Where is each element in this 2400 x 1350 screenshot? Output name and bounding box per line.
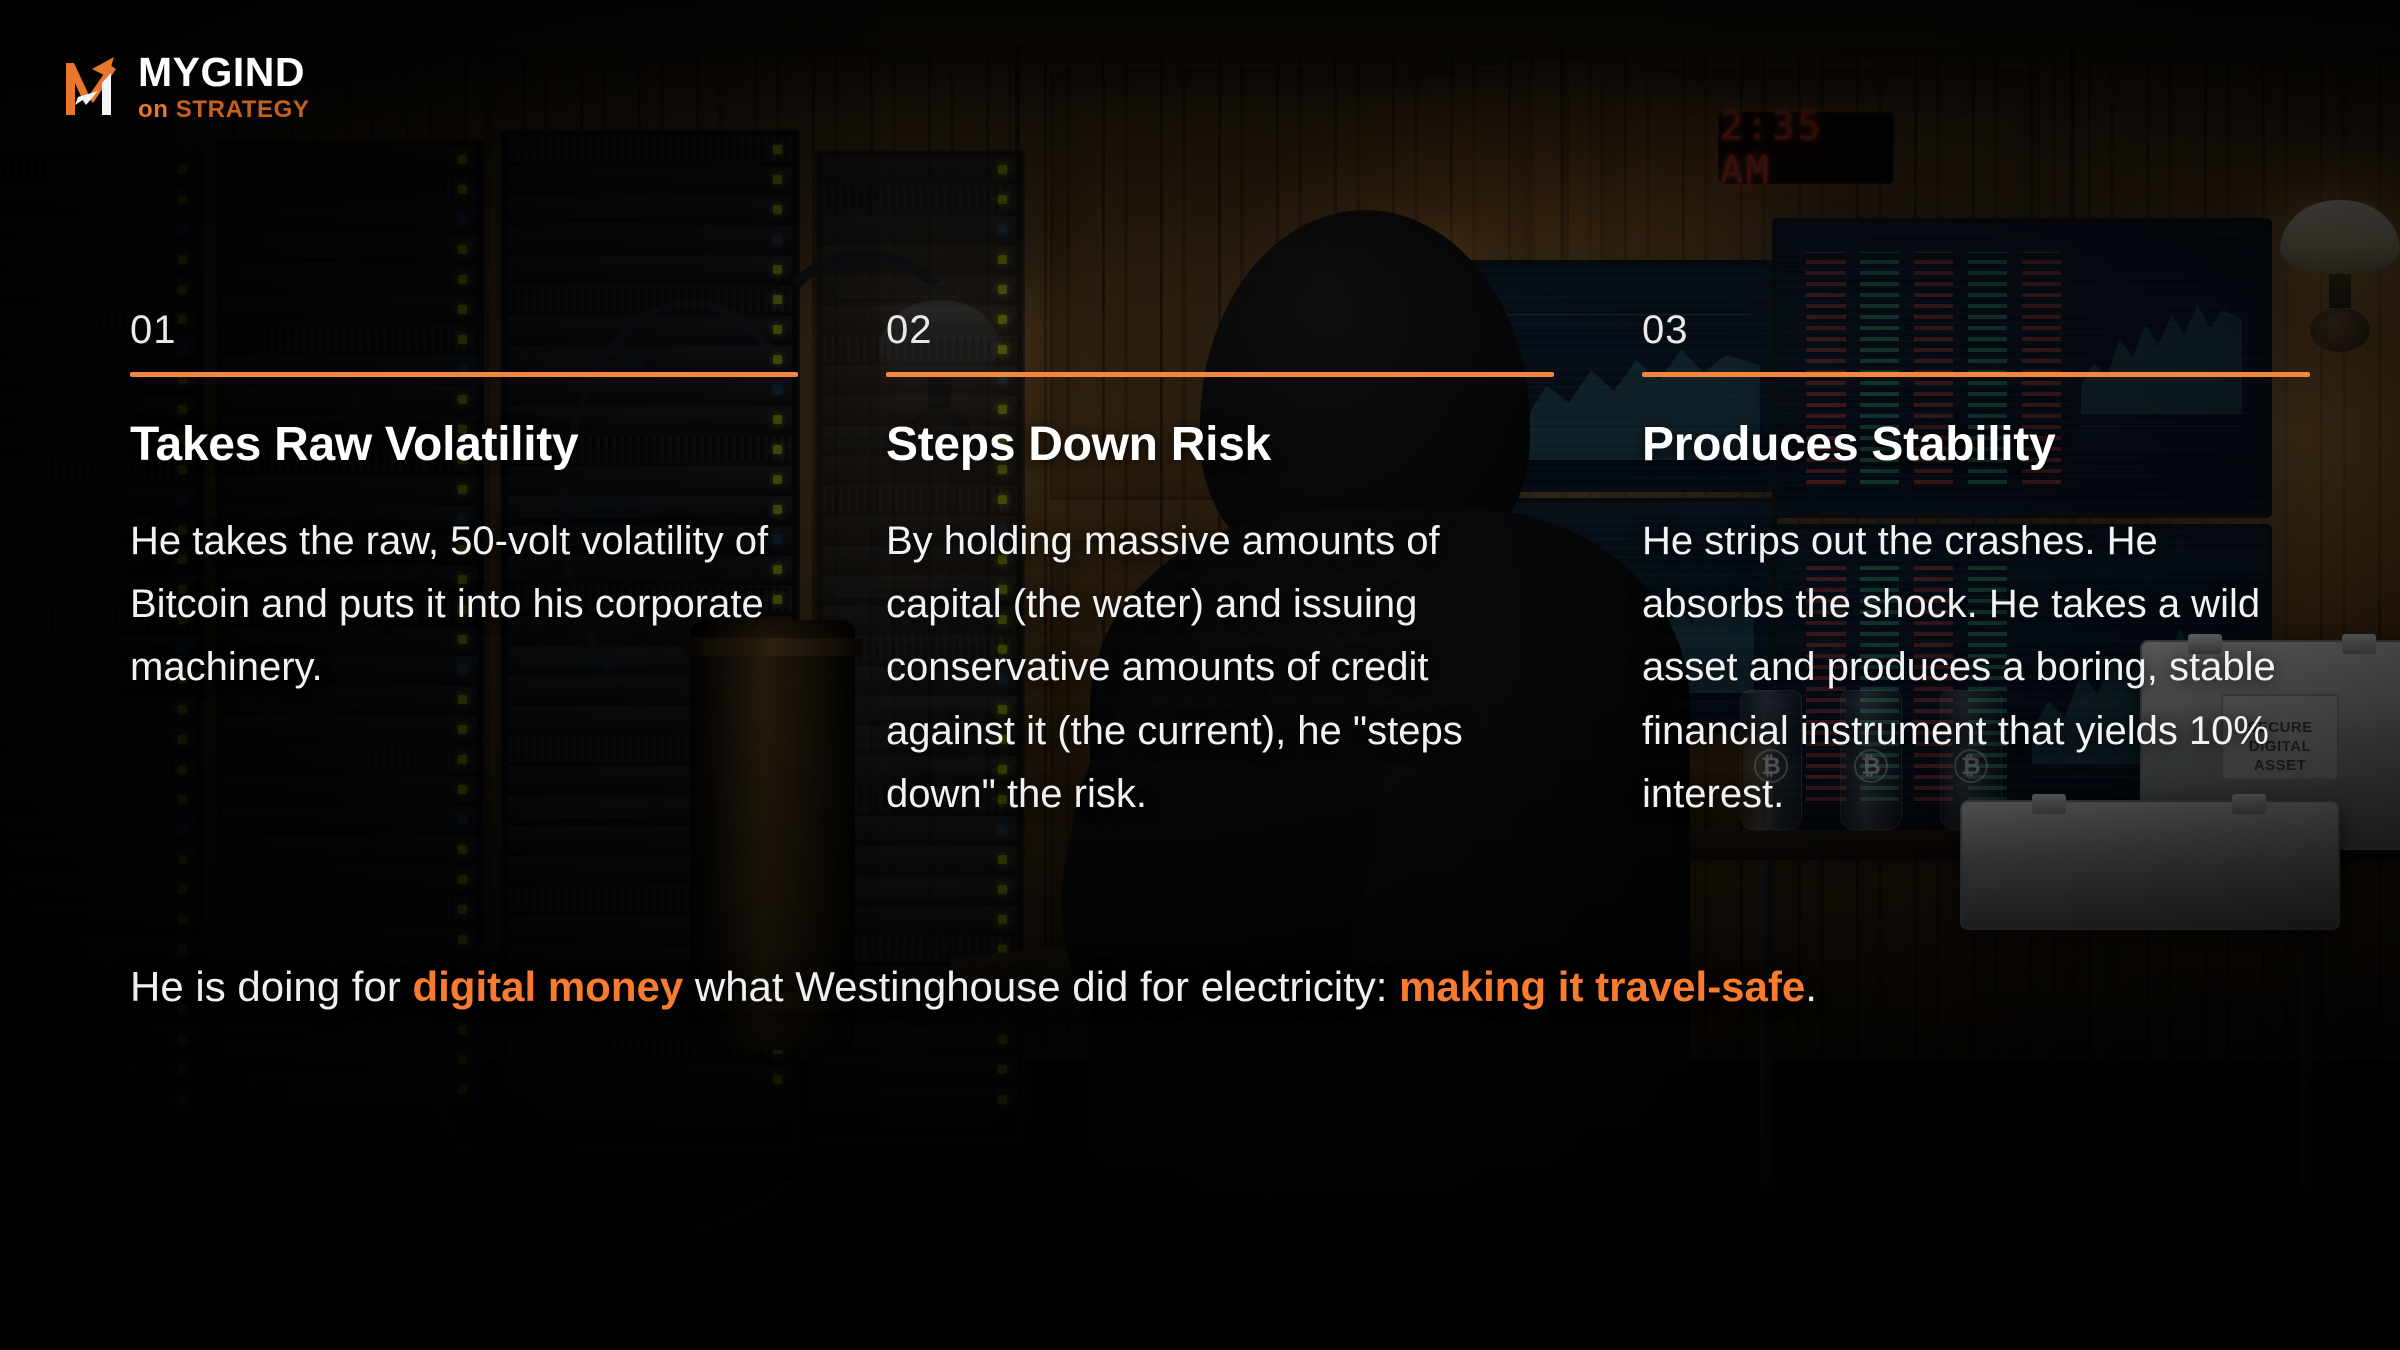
column-number: 03 — [1642, 310, 2310, 350]
column-body-text: By holding massive amounts of capital (t… — [886, 510, 1554, 826]
brand-wordmark: MYGIND on STRATEGY — [138, 52, 310, 122]
footer-part-1: He is doing for — [130, 963, 412, 1010]
column-body-text: He takes the raw, 50-volt volatility of … — [130, 510, 798, 700]
column-heading: Produces Stability — [1642, 417, 2310, 472]
footer-part-2: what Westinghouse did for electricity: — [683, 963, 1399, 1010]
footer-highlight-1: digital money — [412, 963, 683, 1010]
column-number: 02 — [886, 310, 1554, 350]
column-02: 02 Steps Down Risk By holding massive am… — [886, 310, 1554, 826]
presentation-slide: 2:35 AM — [0, 0, 2400, 1350]
column-number: 01 — [130, 310, 798, 350]
column-divider-rule — [886, 372, 1554, 377]
mygind-m-arrow-logo-icon — [62, 53, 124, 121]
brand-name: MYGIND — [138, 52, 310, 93]
footer-statement: He is doing for digital money what Westi… — [130, 963, 2310, 1011]
column-body-text: He strips out the crashes. He absorbs th… — [1642, 510, 2310, 826]
brand-tagline-strategy: STRATEGY — [176, 96, 310, 123]
column-divider-rule — [1642, 372, 2310, 377]
column-01: 01 Takes Raw Volatility He takes the raw… — [130, 310, 798, 826]
brand-logo[interactable]: MYGIND on STRATEGY — [62, 52, 310, 122]
brand-tagline: on STRATEGY — [138, 98, 310, 122]
column-divider-rule — [130, 372, 798, 377]
column-heading: Steps Down Risk — [886, 417, 1554, 472]
footer-highlight-2: making it travel-safe — [1399, 963, 1805, 1010]
three-column-grid: 01 Takes Raw Volatility He takes the raw… — [130, 310, 2310, 826]
footer-part-3: . — [1805, 963, 1817, 1010]
slide-content: MYGIND on STRATEGY 01 Takes Raw Volatili… — [0, 0, 2400, 1350]
column-03: 03 Produces Stability He strips out the … — [1642, 310, 2310, 826]
brand-tagline-on: on — [138, 96, 176, 123]
column-heading: Takes Raw Volatility — [130, 417, 798, 472]
